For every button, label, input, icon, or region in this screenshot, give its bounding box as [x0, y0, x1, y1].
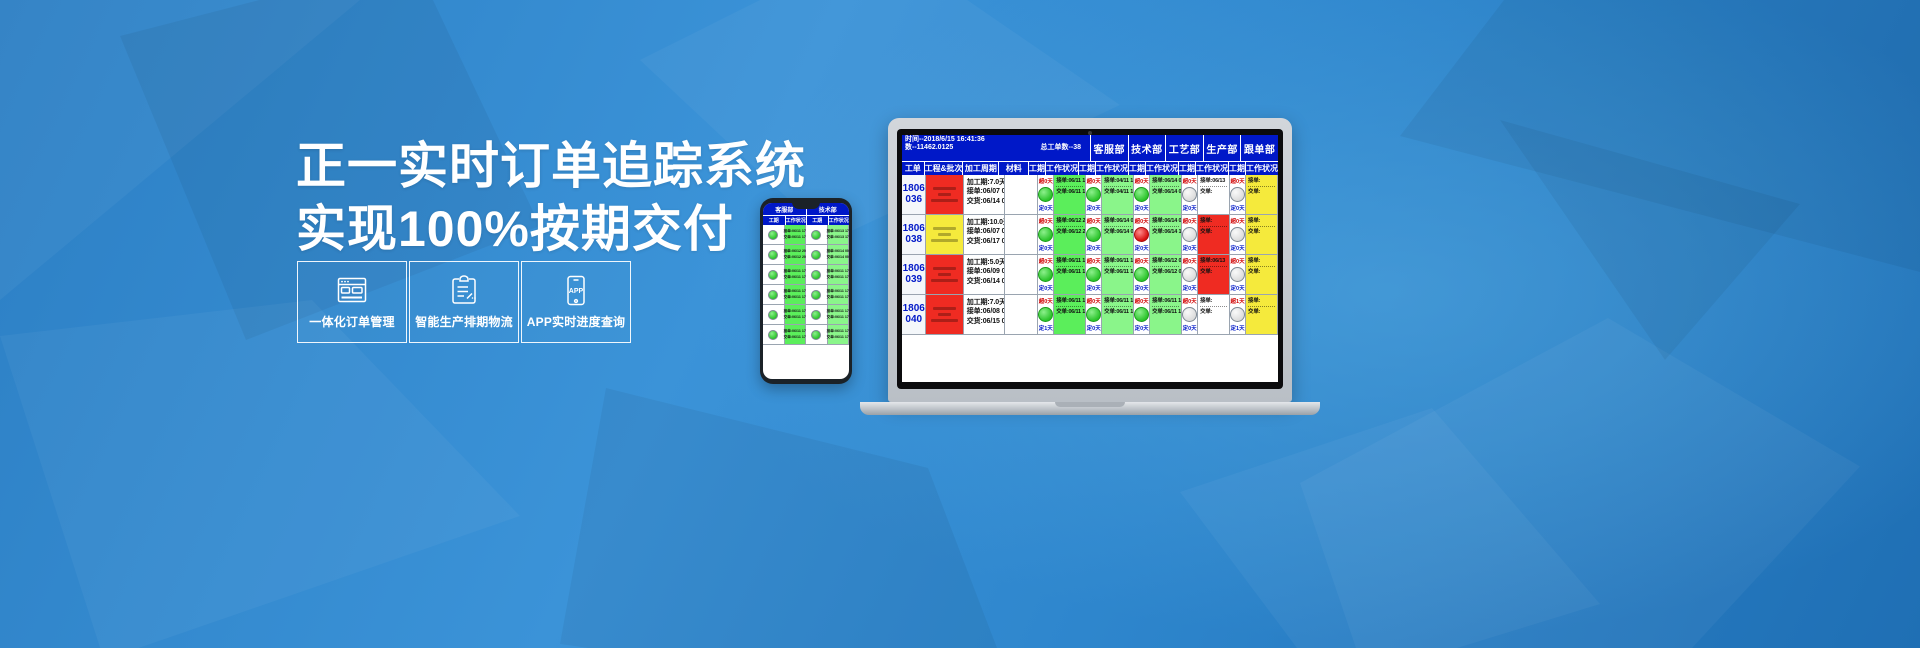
status-dot-green [768, 330, 778, 340]
cell-duration-3: 超0天定0天 [1182, 255, 1198, 294]
duration-ok: 定0天 [1231, 244, 1245, 252]
status-dot-grey [1230, 267, 1245, 282]
cell-duration-2: 超0天定0天 [1134, 255, 1150, 294]
cell-material [1005, 295, 1038, 334]
duration-over: 超0天 [1135, 297, 1149, 305]
webcam-icon [1088, 131, 1092, 135]
cell-status-1: 接单:04/11 17交单:04/11 17 [1102, 175, 1134, 214]
dashboard: 时间--2018/6/15 16:41:36 数--11462.0125 总工单… [902, 135, 1278, 335]
status-dot-green [1038, 267, 1053, 282]
duration-ok: 定0天 [1039, 244, 1053, 252]
cell-project-batch [926, 295, 963, 334]
phone-cell-status: 接单:06/11 17交单:06/11 17 [785, 225, 807, 244]
duration-ok: 定0天 [1135, 324, 1149, 332]
phone-table-body: 接单:06/11 17交单:06/11 17接单:06/13 17交单:06/1… [763, 225, 849, 345]
phone-cell-status: 接单:06/11 17交单:06/11 17 [828, 265, 850, 284]
status-dot-grey [1230, 307, 1245, 322]
col-status-4: 工作状况 [1245, 162, 1278, 175]
phone-col-0: 工期 [763, 216, 785, 225]
cell-duration-1: 超0天定0天 [1086, 255, 1102, 294]
dashboard-departments: 客服部技术部工艺部生产部跟单部 [1090, 135, 1278, 161]
duration-over: 超0天 [1135, 217, 1149, 225]
feature-label: APP实时进度查询 [527, 313, 625, 330]
cell-status-2: 接单:06/14 00交单:06/14 14 [1150, 215, 1182, 254]
cell-status-3: 接单:06/13交单: [1198, 255, 1230, 294]
phone-cell-duration [806, 265, 828, 284]
col-duration-2: 工期 [1128, 162, 1145, 175]
duration-over: 超0天 [1039, 177, 1053, 185]
duration-ok: 定0天 [1183, 324, 1197, 332]
bg-polygon [1180, 408, 1600, 648]
cell-cycle: 加工期:10.0天接单:06/07 00交货:06/17 00 [964, 215, 1006, 254]
cell-duration-0: 超0天定0天 [1038, 255, 1054, 294]
cell-duration-2: 超0天定0天 [1134, 175, 1150, 214]
dashboard-dept-2: 工艺部 [1165, 135, 1203, 161]
duration-ok: 定0天 [1039, 204, 1053, 212]
cell-status-2: 接单:06/14 08交单:06/14 08 [1150, 175, 1182, 214]
duration-ok: 定1天 [1039, 324, 1053, 332]
col-work-order: 工单 [902, 162, 924, 175]
duration-ok: 定0天 [1183, 204, 1197, 212]
cell-status-4: 接单:交单: [1246, 255, 1278, 294]
phone-table-row[interactable]: 接单:06/11 17交单:06/11 17接单:06/13 17交单:06/1… [763, 225, 849, 245]
bg-polygon [1400, 0, 1920, 340]
cell-work-order: 1806036 [902, 175, 926, 214]
cell-duration-3: 超0天定0天 [1182, 295, 1198, 334]
duration-over: 超0天 [1231, 177, 1245, 185]
dashboard-total: 总工单数--38 [1041, 144, 1081, 152]
feature-card-app-tracking[interactable]: APP APP实时进度查询 [521, 261, 631, 343]
col-duration-1: 工期 [1078, 162, 1095, 175]
phone-col-2: 工期 [806, 216, 828, 225]
duration-over: 超0天 [1231, 217, 1245, 225]
feature-list: 一体化订单管理 智能生产排期物流 [297, 261, 631, 343]
duration-over: 超1天 [1231, 297, 1245, 305]
duration-ok: 定0天 [1231, 204, 1245, 212]
phone-cell-duration [806, 245, 828, 264]
headline-line-1: 正一实时订单追踪系统 [296, 135, 936, 198]
status-dot-green [811, 270, 821, 280]
duration-ok: 定0天 [1087, 324, 1101, 332]
cell-cycle: 加工期:7.0天接单:06/08 00交货:06/15 00 [964, 295, 1006, 334]
status-dot-green [1134, 267, 1149, 282]
duration-ok: 定0天 [1087, 244, 1101, 252]
phone-cell-duration [806, 305, 828, 324]
phone-screen: 客服部 技术部 工期 工作状况 工期 工作状况 接单:06/11 17交单:06… [763, 203, 849, 379]
phone-cell-duration [806, 325, 828, 344]
cell-work-order: 1806038 [902, 215, 926, 254]
laptop-lid: 时间--2018/6/15 16:41:36 数--11462.0125 总工单… [888, 118, 1292, 402]
cell-duration-0: 超0天定0天 [1038, 215, 1054, 254]
cell-duration-1: 超0天定0天 [1086, 175, 1102, 214]
phone-table-row[interactable]: 接单:06/11 17交单:06/11 17接单:06/11 17交单:06/1… [763, 325, 849, 345]
bg-polygon [560, 388, 1020, 648]
duration-ok: 定0天 [1135, 284, 1149, 292]
cell-cycle: 加工期:5.0天接单:06/09 00交货:06/14 00 [964, 255, 1006, 294]
duration-over: 超0天 [1039, 297, 1053, 305]
duration-over: 超0天 [1135, 177, 1149, 185]
cell-status-3: 接单:交单: [1198, 215, 1230, 254]
feature-card-order-management[interactable]: 一体化订单管理 [297, 261, 407, 343]
status-dot-green [1086, 227, 1101, 242]
laptop-bezel: 时间--2018/6/15 16:41:36 数--11462.0125 总工单… [897, 129, 1283, 389]
duration-over: 超0天 [1183, 217, 1197, 225]
status-dot-green [1038, 187, 1053, 202]
col-duration-3: 工期 [1178, 162, 1195, 175]
cell-duration-4: 超0天定0天 [1230, 215, 1246, 254]
laptop-base [860, 402, 1320, 415]
dashboard-columns: 工单工程&批次加工周期材料工期工作状况工期工作状况工期工作状况工期工作状况工期工… [902, 161, 1278, 175]
cell-duration-2: 超0天定0天 [1134, 215, 1150, 254]
phone-dept-1: 技术部 [806, 203, 850, 215]
duration-ok: 定0天 [1087, 204, 1101, 212]
status-dot-green [811, 290, 821, 300]
duration-over: 超0天 [1039, 257, 1053, 265]
col-material: 材料 [998, 162, 1028, 175]
duration-ok: 定0天 [1183, 244, 1197, 252]
duration-over: 超0天 [1087, 177, 1101, 185]
col-status-2: 工作状况 [1145, 162, 1178, 175]
cell-material [1005, 255, 1038, 294]
phone-cell-duration [763, 225, 785, 244]
phone-table-row[interactable]: 接单:06/12 20交单:06/12 20接单:06/14 00交单:06/1… [763, 245, 849, 265]
dashboard-time: 时间--2018/6/15 16:41:36 [905, 136, 1087, 144]
cell-status-0: 接单:06/11 17交单:06/11 17 [1054, 255, 1086, 294]
phone-table-row[interactable]: 接单:06/11 17交单:06/11 17接单:06/11 17交单:06/1… [763, 265, 849, 285]
duration-over: 超0天 [1183, 297, 1197, 305]
col-duration-4: 工期 [1228, 162, 1245, 175]
table-row[interactable]: 1806040加工期:7.0天接单:06/08 00交货:06/15 00超0天… [902, 295, 1278, 335]
duration-over: 超0天 [1183, 177, 1197, 185]
phone-cell-duration [763, 325, 785, 344]
hero-banner: 正一实时订单追踪系统 实现100%按期交付 一体化订单管理 [0, 0, 1920, 648]
table-row[interactable]: 1806036加工期:7.0天接单:06/07 00交货:06/14 00超0天… [902, 175, 1278, 215]
cell-status-0: 接单:06/12 20交单:06/12 20 [1054, 215, 1086, 254]
col-status-1: 工作状况 [1095, 162, 1128, 175]
cell-material [1005, 215, 1038, 254]
cell-material [1005, 175, 1038, 214]
cell-status-1: 接单:06/11 17交单:06/11 17 [1102, 255, 1134, 294]
col-status-3: 工作状况 [1195, 162, 1228, 175]
status-dot-grey [1230, 227, 1245, 242]
cell-status-3: 接单:交单: [1198, 295, 1230, 334]
duration-over: 超0天 [1231, 257, 1245, 265]
duration-ok: 定0天 [1087, 284, 1101, 292]
status-dot-green [1134, 307, 1149, 322]
cell-project-batch [926, 175, 963, 214]
bg-polygon [0, 300, 520, 648]
duration-ok: 定0天 [1135, 244, 1149, 252]
cell-status-4: 接单:交单: [1246, 175, 1278, 214]
cell-duration-4: 超0天定0天 [1230, 255, 1246, 294]
duration-over: 超0天 [1087, 217, 1101, 225]
phone-cell-status: 接单:06/11 17交单:06/11 17 [785, 265, 807, 284]
status-dot-green [811, 250, 821, 260]
svg-text:APP: APP [569, 288, 584, 295]
cell-status-2: 接单:06/11 17交单:06/11 17 [1150, 295, 1182, 334]
phone-cell-duration [806, 225, 828, 244]
phone-cell-status: 接单:06/13 17交单:06/13 17 [828, 225, 850, 244]
laptop-notch [1055, 402, 1125, 407]
cell-duration-4: 超1天定1天 [1230, 295, 1246, 334]
phone-cell-status: 接单:06/11 17交单:06/11 17 [785, 305, 807, 324]
status-dot-green [1038, 307, 1053, 322]
duration-ok: 定0天 [1231, 284, 1245, 292]
status-dot-green [1086, 307, 1101, 322]
phone-cell-duration [763, 245, 785, 264]
phone-cell-duration [763, 305, 785, 324]
cell-duration-3: 超0天定0天 [1182, 215, 1198, 254]
status-dot-green [1086, 187, 1101, 202]
cell-status-4: 接单:交单: [1246, 215, 1278, 254]
bg-polygon [1500, 120, 1800, 360]
table-row[interactable]: 1806039加工期:5.0天接单:06/09 00交货:06/14 00超0天… [902, 255, 1278, 295]
phone-cell-status: 接单:06/11 17交单:06/11 17 [785, 325, 807, 344]
duration-ok: 定0天 [1135, 204, 1149, 212]
cell-project-batch [926, 215, 963, 254]
phone-col-1: 工作状况 [785, 216, 807, 225]
status-dot-grey [1182, 227, 1197, 242]
bg-polygon [1300, 318, 1860, 648]
status-dot-green [1134, 187, 1149, 202]
phone-cell-status: 接单:06/11 17交单:06/11 17 [828, 285, 850, 304]
cell-duration-1: 超0天定0天 [1086, 215, 1102, 254]
status-dot-green [1038, 227, 1053, 242]
status-dot-grey [1182, 267, 1197, 282]
phone-mockup: 客服部 技术部 工期 工作状况 工期 工作状况 接单:06/11 17交单:06… [760, 198, 852, 384]
table-row[interactable]: 1806038加工期:10.0天接单:06/07 00交货:06/17 00超0… [902, 215, 1278, 255]
col-duration-0: 工期 [1028, 162, 1045, 175]
duration-over: 超0天 [1087, 297, 1101, 305]
laptop-mockup: 时间--2018/6/15 16:41:36 数--11462.0125 总工单… [860, 118, 1320, 415]
cell-project-batch [926, 255, 963, 294]
feature-label: 一体化订单管理 [309, 313, 394, 330]
col-project-batch: 工程&批次 [924, 162, 963, 175]
status-dot-green [1086, 267, 1101, 282]
cell-duration-2: 超0天定0天 [1134, 295, 1150, 334]
status-dot-green [811, 330, 821, 340]
dashboard-dept-3: 生产部 [1203, 135, 1241, 161]
duration-over: 超0天 [1183, 257, 1197, 265]
duration-ok: 定0天 [1183, 284, 1197, 292]
phone-table-row[interactable]: 接单:06/11 17交单:06/11 17接单:06/11 17交单:06/1… [763, 285, 849, 305]
status-dot-green [768, 310, 778, 320]
window-layout-icon [337, 274, 367, 306]
phone-column-header: 工期 工作状况 工期 工作状况 [763, 215, 849, 225]
cell-status-4: 接单:交单: [1246, 295, 1278, 334]
phone-dept-0: 客服部 [763, 203, 806, 215]
col-status-0: 工作状况 [1045, 162, 1078, 175]
duration-over: 超0天 [1039, 217, 1053, 225]
status-dot-green [768, 270, 778, 280]
phone-cell-status: 接单:06/11 17交单:06/11 17 [785, 285, 807, 304]
feature-label: 智能生产排期物流 [415, 313, 513, 330]
phone-cell-duration [806, 285, 828, 304]
status-dot-red [1134, 227, 1149, 242]
status-dot-green [768, 230, 778, 240]
cell-status-1: 接单:06/11 17交单:06/11 17 [1102, 295, 1134, 334]
dashboard-dept-4: 跟单部 [1240, 135, 1278, 161]
dashboard-counts: 数--11462.0125 总工单数--38 [905, 144, 1087, 152]
dashboard-count: 数--11462.0125 [905, 144, 953, 152]
mobile-app-icon: APP [565, 274, 587, 306]
laptop-screen: 时间--2018/6/15 16:41:36 数--11462.0125 总工单… [902, 135, 1278, 382]
status-dot-green [768, 250, 778, 260]
cell-duration-1: 超0天定0天 [1086, 295, 1102, 334]
phone-cell-status: 接单:06/14 00交单:06/14 00 [828, 245, 850, 264]
phone-department-header: 客服部 技术部 [763, 203, 849, 215]
cell-status-0: 接单:06/11 17交单:06/11 17 [1054, 175, 1086, 214]
phone-table-row[interactable]: 接单:06/11 17交单:06/11 17接单:06/11 17交单:06/1… [763, 305, 849, 325]
status-dot-grey [1182, 187, 1197, 202]
cell-status-0: 接单:06/11 17交单:06/11 17 [1054, 295, 1086, 334]
cell-cycle: 加工期:7.0天接单:06/07 00交货:06/14 00 [964, 175, 1006, 214]
dashboard-table-body: 1806036加工期:7.0天接单:06/07 00交货:06/14 00超0天… [902, 175, 1278, 335]
col-cycle: 加工周期 [962, 162, 998, 175]
cell-status-3: 接单:06/13交单: [1198, 175, 1230, 214]
phone-cell-status: 接单:06/11 17交单:06/11 17 [828, 305, 850, 324]
status-dot-grey [1230, 187, 1245, 202]
clipboard-icon [451, 274, 477, 306]
phone-cell-status: 接单:06/11 17交单:06/11 17 [828, 325, 850, 344]
cell-status-2: 接单:06/12 09交单:06/12 09 [1150, 255, 1182, 294]
cell-work-order: 1806040 [902, 295, 926, 334]
phone-cell-status: 接单:06/12 20交单:06/12 20 [785, 245, 807, 264]
duration-ok: 定0天 [1039, 284, 1053, 292]
cell-work-order: 1806039 [902, 255, 926, 294]
status-dot-green [811, 310, 821, 320]
phone-cell-duration [763, 265, 785, 284]
phone-cell-duration [763, 285, 785, 304]
dashboard-dept-1: 技术部 [1128, 135, 1166, 161]
dashboard-meta: 时间--2018/6/15 16:41:36 数--11462.0125 总工单… [902, 135, 1090, 161]
status-dot-green [768, 290, 778, 300]
cell-duration-3: 超0天定0天 [1182, 175, 1198, 214]
duration-over: 超0天 [1087, 257, 1101, 265]
cell-status-1: 接单:06/14 00交单:06/14 00 [1102, 215, 1134, 254]
cell-duration-0: 超0天定0天 [1038, 175, 1054, 214]
status-dot-grey [1182, 307, 1197, 322]
cell-duration-4: 超0天定0天 [1230, 175, 1246, 214]
duration-over: 超0天 [1135, 257, 1149, 265]
cell-duration-0: 超0天定1天 [1038, 295, 1054, 334]
duration-ok: 定1天 [1231, 324, 1245, 332]
feature-card-production-scheduling[interactable]: 智能生产排期物流 [409, 261, 519, 343]
dashboard-header: 时间--2018/6/15 16:41:36 数--11462.0125 总工单… [902, 135, 1278, 161]
phone-col-3: 工作状况 [828, 216, 850, 225]
status-dot-green [811, 230, 821, 240]
dashboard-dept-0: 客服部 [1090, 135, 1128, 161]
